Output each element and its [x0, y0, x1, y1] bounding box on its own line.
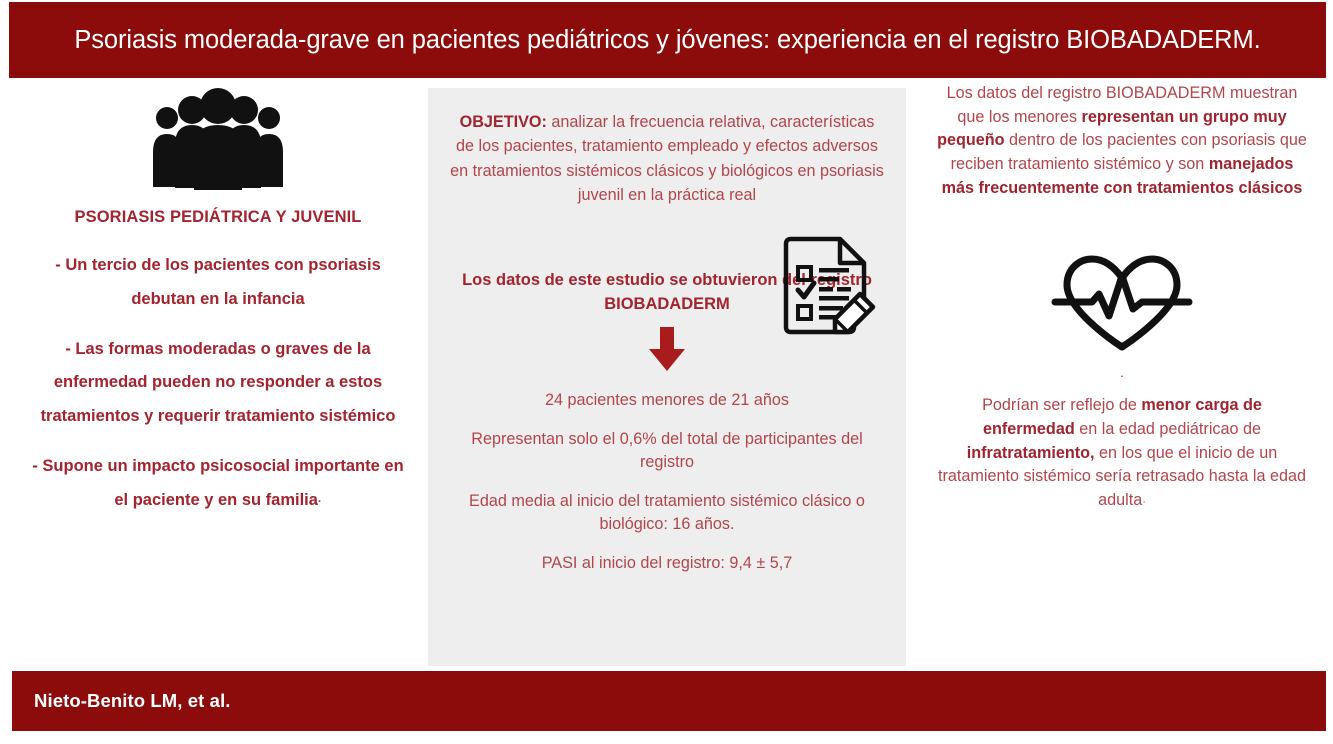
left-bullet-3-text: - Supone un impacto psicosocial importan… — [32, 457, 403, 509]
infographic-body: PSORIASIS PEDIÁTRICA Y JUVENIL - Un terc… — [0, 78, 1333, 668]
right-bottom-part2: en la edad pediátricao de — [1075, 420, 1261, 438]
title-banner: Psoriasis moderada-grave en pacientes pe… — [9, 2, 1326, 78]
left-bullet-1: - Un tercio de los pacientes con psorias… — [18, 249, 418, 317]
left-bullet-2: - Las formas moderadas o graves de la en… — [18, 333, 418, 434]
people-group-icon — [150, 88, 286, 190]
right-bottom-bold2: infratratamiento, — [967, 444, 1095, 462]
objective-paragraph: OBJETIVO: analizar la frecuencia relativ… — [444, 110, 890, 207]
objective-label: OBJETIVO: — [460, 113, 547, 131]
stat-pasi: PASI al inicio del registro: 9,4 ± 5,7 — [444, 552, 890, 575]
document-checklist-icon-container — [774, 234, 878, 338]
heart-pulse-icon-container — [920, 254, 1324, 354]
left-bullet-trailing-mark: · — [318, 496, 322, 508]
right-top-paragraph: Los datos del registro BIOBADADERM muest… — [920, 82, 1324, 200]
right-bottom-paragraph: Podrían ser reflejo de menor carga de en… — [920, 394, 1324, 512]
left-column-heading: PSORIASIS PEDIÁTRICA Y JUVENIL — [18, 208, 418, 227]
page-title: Psoriasis moderada-grave en pacientes pe… — [74, 25, 1260, 55]
left-column: PSORIASIS PEDIÁTRICA Y JUVENIL - Un terc… — [18, 84, 418, 518]
stat-percentage: Representan solo el 0,6% del total de pa… — [444, 428, 890, 474]
heart-pulse-icon — [1047, 254, 1197, 354]
stat-patient-count: 24 pacientes menores de 21 años — [444, 389, 890, 412]
people-group-icon-container — [18, 88, 418, 190]
footer-banner: Nieto-Benito LM, et al. — [12, 671, 1326, 731]
right-bottom-part1: Podrían ser reflejo de — [982, 396, 1141, 414]
left-bullet-3: - Supone un impacto psicosocial importan… — [18, 450, 418, 518]
right-bottom-trailing-mark: · — [1142, 496, 1146, 508]
right-separator-mark: · — [920, 372, 1324, 380]
citation-text: Nieto-Benito LM, et al. — [12, 690, 231, 712]
middle-column-panel: OBJETIVO: analizar la frecuencia relativ… — [428, 88, 906, 666]
stat-mean-age: Edad media al inicio del tratamiento sis… — [444, 490, 890, 536]
down-arrow-icon — [647, 325, 687, 373]
document-checklist-pencil-icon — [774, 234, 878, 338]
right-column: Los datos del registro BIOBADADERM muest… — [920, 82, 1324, 513]
